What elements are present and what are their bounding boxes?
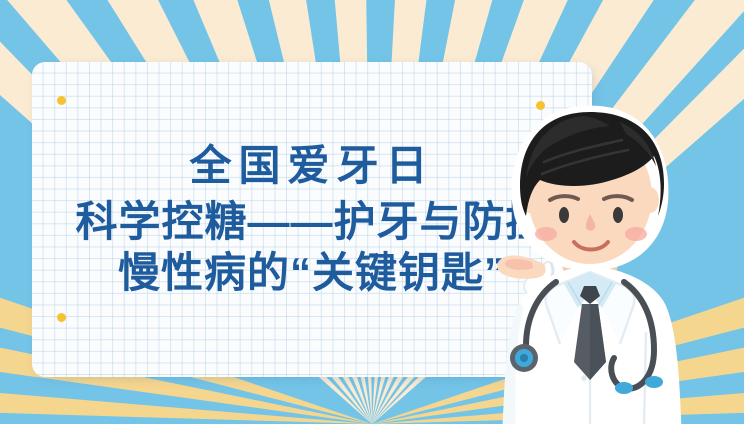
stethoscope-eartip <box>615 382 633 394</box>
poster-canvas: 全国爱牙日 科学控糖——护牙与防控 慢性病的“关键钥匙” <box>0 0 744 424</box>
accent-dot-top-left <box>57 96 66 105</box>
cheek-left <box>535 227 557 241</box>
doctor-head <box>516 110 664 266</box>
cheek-right <box>625 227 647 241</box>
stethoscope-eartip <box>645 376 663 388</box>
eye-right <box>613 207 623 223</box>
accent-dot-bottom-left <box>57 313 66 322</box>
eye-left <box>559 207 569 223</box>
doctor-illustration <box>432 96 744 424</box>
coat-button <box>581 375 587 381</box>
